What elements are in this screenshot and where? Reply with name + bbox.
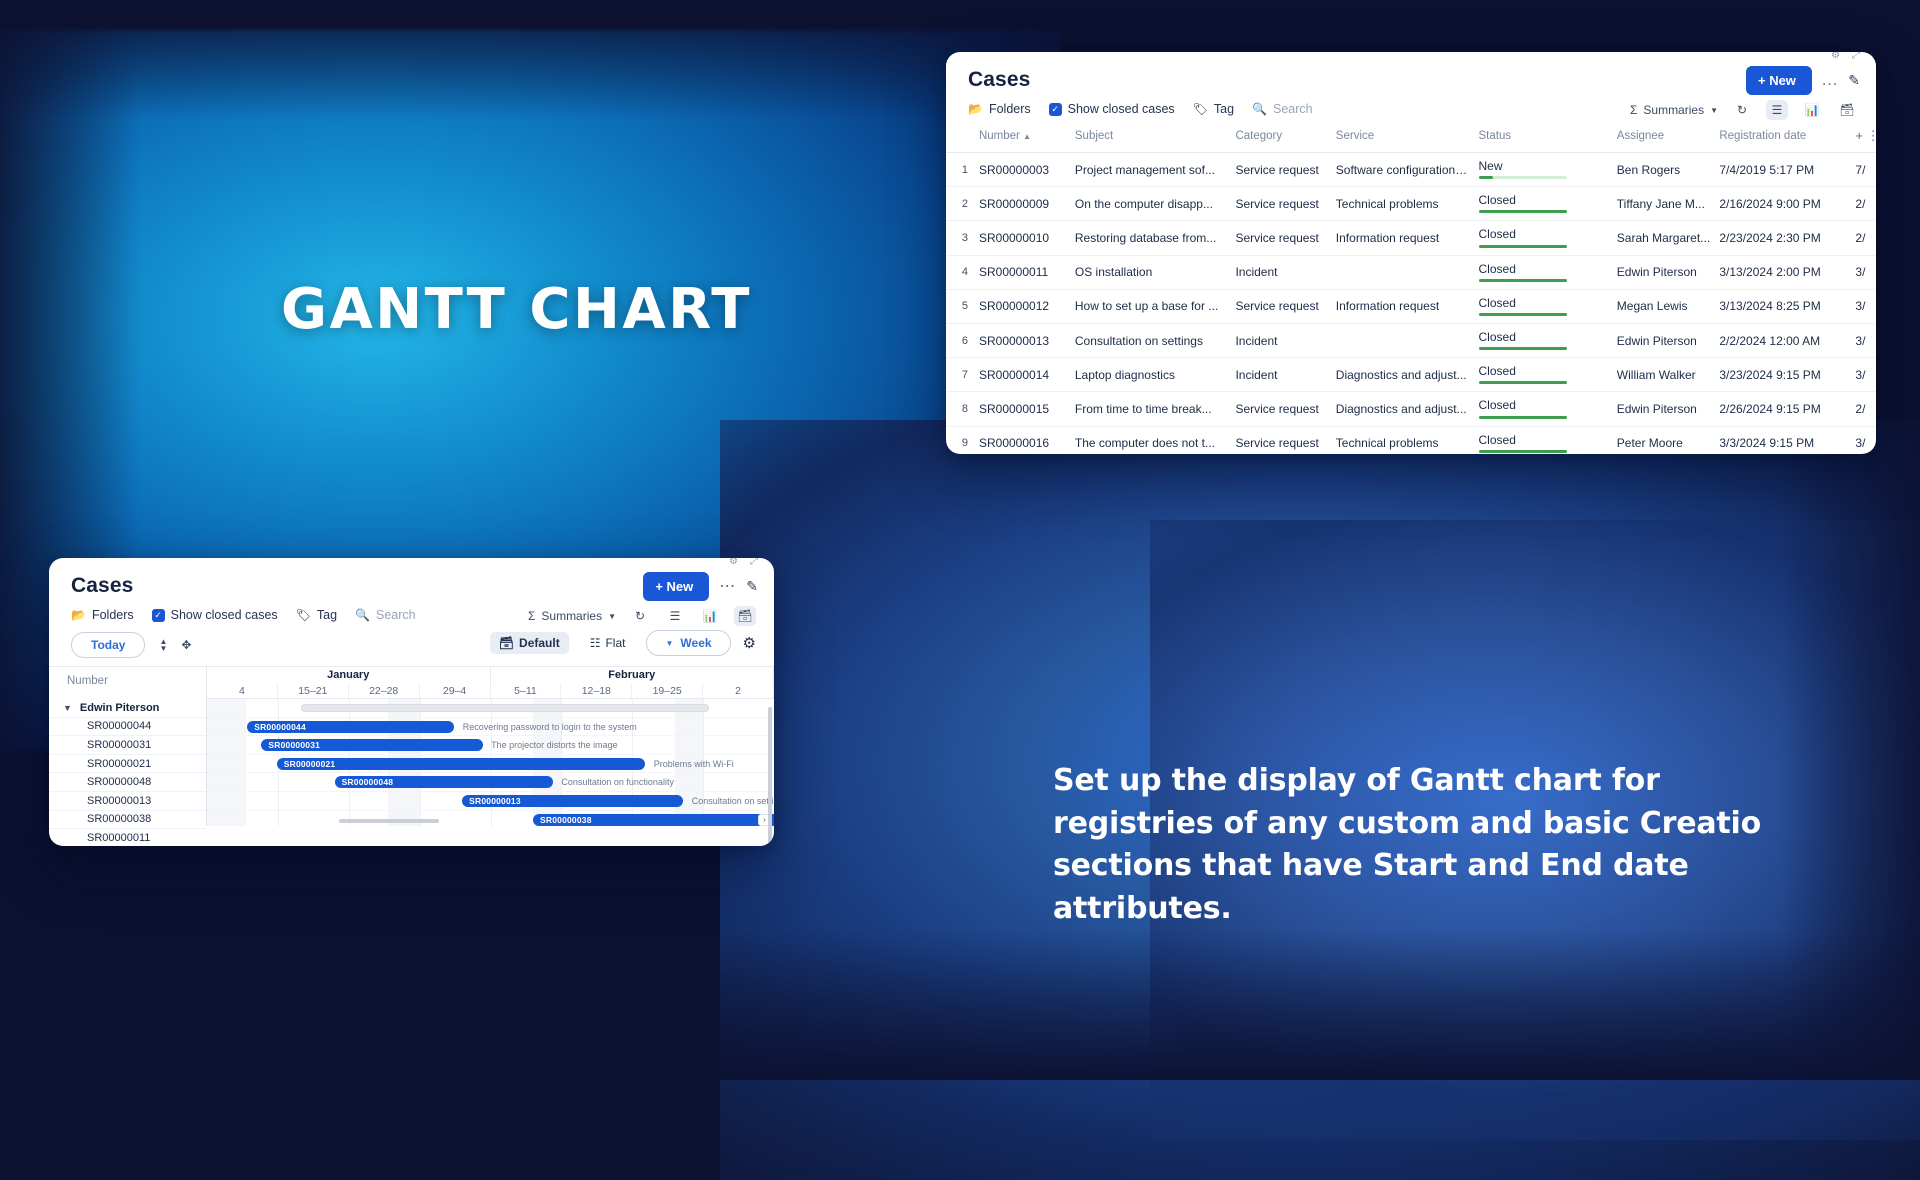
status-progress-bar: [1479, 245, 1567, 248]
status-badge: Closed: [1475, 289, 1613, 323]
status-badge: Closed: [1475, 187, 1613, 221]
view-flat-label: Flat: [605, 636, 625, 650]
case-number-link[interactable]: SR00000010: [975, 221, 1071, 255]
case-service-link[interactable]: [1332, 323, 1475, 357]
summaries-label: Summaries: [541, 609, 602, 623]
case-registration-date: 2/2/2024 12:00 AM: [1715, 323, 1851, 357]
gantt-task-label[interactable]: SR00000013: [49, 792, 206, 811]
case-subject: Project management sof...: [1071, 153, 1232, 187]
gantt-window-corner-icons: ⚙ ⤢: [729, 558, 758, 567]
folders-button[interactable]: 📂 Folders: [968, 102, 1031, 116]
grid-icon: ☷: [590, 636, 601, 650]
gantt-group-label[interactable]: ▼Edwin Piterson: [49, 699, 206, 718]
page-title: Cases: [968, 68, 1030, 92]
gantt-task-bar[interactable]: SR00000013: [462, 795, 683, 807]
status-progress-bar: [1479, 347, 1567, 350]
status-label: Closed: [1479, 297, 1609, 310]
gantt-month-label: January: [207, 667, 491, 683]
chevron-down-icon[interactable]: ▼: [63, 703, 72, 713]
case-registration-date: 3/23/2024 9:15 PM: [1715, 358, 1851, 392]
case-subject: Restoring database from...: [1071, 221, 1232, 255]
expand-icon[interactable]: ⤢: [750, 558, 758, 567]
case-subject: OS installation: [1071, 255, 1232, 289]
gantt-week-label: 4: [207, 683, 278, 698]
row-index: 7: [946, 358, 975, 392]
status-badge: Closed: [1475, 392, 1613, 426]
column-registration-date[interactable]: Registration date: [1715, 122, 1851, 153]
gantt-week-label: 15–21: [278, 683, 349, 698]
refresh-icon[interactable]: ↻: [629, 606, 651, 626]
status-progress-bar: [1479, 313, 1567, 316]
table-row[interactable]: 3SR00000010Restoring database from...Ser…: [946, 221, 1876, 255]
gantt-month-header: JanuaryFebruary: [207, 667, 774, 683]
search-icon: 🔍: [355, 608, 370, 622]
case-service-link[interactable]: Technical problems: [1332, 426, 1475, 454]
status-label: New: [1479, 160, 1609, 173]
case-service-link[interactable]: Diagnostics and adjust...: [1332, 392, 1475, 426]
search-placeholder: Search: [1273, 102, 1313, 116]
gantt-row: SR00000038›: [207, 811, 774, 826]
status-label: Closed: [1479, 228, 1609, 241]
case-assignee-link[interactable]: Edwin Piterson: [1613, 323, 1716, 357]
case-number-link[interactable]: SR00000003: [975, 153, 1071, 187]
cases-table-body: 1SR00000003Project management sof...Serv…: [946, 153, 1876, 455]
cases-header-actions: + New ... ✎: [1746, 66, 1860, 95]
gantt-task-label[interactable]: SR00000011: [49, 829, 206, 846]
folders-label: Folders: [989, 102, 1031, 116]
case-service-link[interactable]: Information request: [1332, 221, 1475, 255]
row-index: 4: [946, 255, 975, 289]
case-registration-date-overflow: 3/: [1851, 255, 1876, 289]
gantt-view-icon[interactable]: 🗃: [1836, 100, 1858, 120]
folders-button[interactable]: 📂 Folders: [71, 608, 134, 622]
scale-label: Week: [680, 636, 711, 650]
gantt-card: Cases ⚙ ⤢ + New ⋯ ✎ 📂 Folders ✓ Show clo…: [49, 558, 774, 846]
gantt-task-bar[interactable]: SR00000031: [261, 739, 482, 751]
search-icon: 🔍: [1252, 102, 1267, 116]
table-row[interactable]: 6SR00000013Consultation on settingsIncid…: [946, 323, 1876, 357]
case-category: Incident: [1231, 255, 1331, 289]
case-number-link[interactable]: SR00000011: [975, 255, 1071, 289]
gantt-settings-gear-icon[interactable]: ⚙: [743, 634, 756, 652]
case-registration-date: 2/23/2024 2:30 PM: [1715, 221, 1851, 255]
case-registration-date-overflow: 3/: [1851, 323, 1876, 357]
case-service-link[interactable]: Software configuration (...: [1332, 153, 1475, 187]
row-index: 5: [946, 289, 975, 323]
case-category: Service request: [1231, 289, 1331, 323]
gantt-task-label[interactable]: SR00000031: [49, 736, 206, 755]
case-assignee-link[interactable]: Edwin Piterson: [1613, 392, 1716, 426]
sigma-icon: Σ: [1630, 103, 1637, 117]
case-subject: From time to time break...: [1071, 392, 1232, 426]
collapse-all-icon[interactable]: ✥: [181, 638, 191, 652]
status-progress-bar: [1479, 176, 1567, 179]
cases-table: Number ▲ Subject Category Service Status…: [946, 122, 1876, 454]
table-row[interactable]: 9SR00000016The computer does not t...Ser…: [946, 426, 1876, 454]
table-row[interactable]: 1SR00000003Project management sof...Serv…: [946, 153, 1876, 187]
gantt-week-label: 19–25: [632, 683, 703, 698]
case-registration-date: 2/16/2024 9:00 PM: [1715, 187, 1851, 221]
gantt-controls: Today ▲▼ ✥ 🗃 Default ☷ Flat ▼ Week ⚙: [49, 628, 774, 666]
table-row[interactable]: 7SR00000014Laptop diagnosticsIncidentDia…: [946, 358, 1876, 392]
gantt-task-label[interactable]: SR00000038: [49, 811, 206, 830]
more-options-icon[interactable]: ⋯: [719, 579, 736, 595]
status-label: Closed: [1479, 331, 1609, 344]
view-default-button[interactable]: 🗃 Default: [490, 632, 569, 654]
tag-label: Tag: [317, 608, 337, 622]
case-assignee-link[interactable]: Tiffany Jane M...: [1613, 187, 1716, 221]
case-number-link[interactable]: SR00000014: [975, 358, 1071, 392]
case-category: Service request: [1231, 426, 1331, 454]
chevron-down-icon: ▼: [665, 639, 673, 648]
show-closed-cases-checkbox[interactable]: ✓ Show closed cases: [152, 608, 278, 622]
case-category: Service request: [1231, 221, 1331, 255]
status-badge: Closed: [1475, 323, 1613, 357]
show-closed-cases-label: Show closed cases: [171, 608, 278, 622]
case-assignee-link[interactable]: Ben Rogers: [1613, 153, 1716, 187]
row-index: 6: [946, 323, 975, 357]
case-registration-date: 3/13/2024 2:00 PM: [1715, 255, 1851, 289]
list-view-icon[interactable]: ☰: [664, 606, 686, 626]
status-badge: Closed: [1475, 255, 1613, 289]
gantt-page-title: Cases: [71, 574, 133, 598]
column-subject[interactable]: Subject: [1071, 122, 1232, 153]
case-subject: On the computer disapp...: [1071, 187, 1232, 221]
gantt-toolbar: 📂 Folders ✓ Show closed cases 🏷 Tag 🔍 Se…: [49, 598, 774, 628]
window-corner-icons: ⚙ ⤢: [1831, 52, 1860, 61]
case-number-link[interactable]: SR00000009: [975, 187, 1071, 221]
column-number[interactable]: Number ▲: [975, 122, 1071, 153]
folder-icon: 📂: [968, 102, 983, 116]
gantt-horizontal-scrollbar[interactable]: [339, 819, 439, 823]
gantt-week-header: 415–2122–2829–45–1112–1819–252: [207, 683, 774, 699]
cases-view-controls: Σ Summaries ▼ ↻ ☰ 📊 🗃: [1630, 100, 1858, 120]
case-subject: Consultation on settings: [1071, 323, 1232, 357]
case-registration-date: 3/13/2024 8:25 PM: [1715, 289, 1851, 323]
gantt-row: SR00000021Problems with Wi-Fi: [207, 755, 774, 774]
edit-pencil-icon[interactable]: ✎: [1848, 72, 1860, 89]
case-number-link[interactable]: SR00000015: [975, 392, 1071, 426]
gantt-week-label: 12–18: [561, 683, 632, 698]
expand-icon[interactable]: ⤢: [1852, 52, 1860, 61]
case-assignee-link[interactable]: Edwin Piterson: [1613, 255, 1716, 289]
case-category: Service request: [1231, 392, 1331, 426]
checkmark-icon: ✓: [1049, 103, 1062, 116]
table-row[interactable]: 5SR00000012How to set up a base for ...S…: [946, 289, 1876, 323]
cases-toolbar: 📂 Folders ✓ Show closed cases 🏷 Tag 🔍 Se…: [946, 92, 1876, 122]
row-index: 8: [946, 392, 975, 426]
gantt-week-label: 22–28: [349, 683, 420, 698]
status-badge: New: [1475, 153, 1613, 187]
gear-icon[interactable]: ⚙: [729, 558, 738, 567]
gantt-view-controls: Σ Summaries ▼ ↻ ☰ 📊 🗃: [528, 606, 756, 626]
row-index: 2: [946, 187, 975, 221]
case-category: Incident: [1231, 358, 1331, 392]
gantt-search-input[interactable]: 🔍 Search: [355, 608, 416, 622]
chart-view-icon[interactable]: 📊: [699, 606, 721, 626]
gantt-body: Number ▼Edwin PitersonSR00000044SR000000…: [49, 666, 774, 826]
list-view-icon[interactable]: ☰: [1766, 100, 1788, 120]
hero-title: GANTT CHART: [281, 277, 752, 342]
today-button[interactable]: Today: [71, 632, 145, 658]
folders-label: Folders: [92, 608, 134, 622]
gantt-view-icon[interactable]: 🗃: [734, 606, 756, 626]
gantt-timeline: JanuaryFebruary 415–2122–2829–45–1112–18…: [207, 667, 774, 826]
gantt-task-bar[interactable]: SR00000021: [277, 758, 646, 770]
row-height-stepper[interactable]: ▲▼: [159, 638, 167, 652]
case-number-link[interactable]: SR00000016: [975, 426, 1071, 454]
status-progress-bar: [1479, 210, 1567, 213]
case-registration-date-overflow: 2/: [1851, 392, 1876, 426]
gantt-task-caption: Recovering password to login to the syst…: [463, 722, 637, 732]
gantt-task-label[interactable]: SR00000048: [49, 773, 206, 792]
folder-icon: 📂: [71, 608, 86, 622]
column-add-icons[interactable]: + ⋮: [1851, 122, 1876, 153]
gantt-mode-controls: 🗃 Default ☷ Flat ▼ Week ⚙: [490, 630, 756, 656]
column-index: [946, 122, 975, 153]
summaries-dropdown[interactable]: Σ Summaries ▼: [528, 609, 616, 623]
status-progress-bar: [1479, 450, 1567, 453]
gantt-task-caption: Consultation on settings: [692, 796, 774, 806]
edit-pencil-icon[interactable]: ✎: [746, 578, 758, 595]
gantt-vertical-scrollbar[interactable]: [768, 707, 772, 846]
column-service[interactable]: Service: [1332, 122, 1475, 153]
show-closed-cases-label: Show closed cases: [1068, 102, 1175, 116]
case-subject: How to set up a base for ...: [1071, 289, 1232, 323]
tag-button[interactable]: 🏷 Tag: [1193, 102, 1234, 116]
status-progress-bar: [1479, 416, 1567, 419]
scale-dropdown[interactable]: ▼ Week: [646, 630, 730, 656]
chevron-down-icon: ▼: [608, 612, 616, 621]
tag-icon: 🏷: [296, 608, 311, 622]
case-category: Incident: [1231, 323, 1331, 357]
column-category[interactable]: Category: [1231, 122, 1331, 153]
gantt-task-caption: Problems with Wi-Fi: [654, 759, 734, 769]
case-registration-date-overflow: 2/: [1851, 221, 1876, 255]
case-assignee-link[interactable]: Sarah Margaret...: [1613, 221, 1716, 255]
table-row[interactable]: 8SR00000015From time to time break...Ser…: [946, 392, 1876, 426]
case-registration-date: 3/3/2024 9:15 PM: [1715, 426, 1851, 454]
case-category: Service request: [1231, 187, 1331, 221]
add-new-button[interactable]: + New: [1746, 66, 1812, 95]
gear-icon[interactable]: ⚙: [1831, 52, 1840, 61]
case-registration-date-overflow: 7/: [1851, 153, 1876, 187]
status-progress-bar: [1479, 279, 1567, 282]
status-label: Closed: [1479, 399, 1609, 412]
row-index: 1: [946, 153, 975, 187]
status-badge: Closed: [1475, 358, 1613, 392]
hero-tagline: Set up the display of Gantt chart for re…: [1053, 760, 1763, 930]
gantt-group-name: Edwin Piterson: [80, 702, 159, 714]
tag-button[interactable]: 🏷 Tag: [296, 608, 337, 622]
case-registration-date-overflow: 2/: [1851, 187, 1876, 221]
sigma-icon: Σ: [528, 609, 535, 623]
gantt-month-label: February: [491, 667, 775, 683]
gantt-task-bar[interactable]: SR00000038: [533, 814, 774, 826]
gantt-row: SR00000048Consultation on functionality: [207, 773, 774, 792]
gantt-row: [207, 699, 774, 718]
case-service-link[interactable]: Technical problems: [1332, 187, 1475, 221]
gantt-icon: 🗃: [499, 636, 514, 650]
case-category: Service request: [1231, 153, 1331, 187]
gantt-header: Cases ⚙ ⤢ + New ⋯ ✎: [49, 558, 774, 598]
gantt-task-caption: Consultation on functionality: [561, 777, 674, 787]
row-index: 9: [946, 426, 975, 454]
status-progress-bar: [1479, 381, 1567, 384]
checkmark-icon: ✓: [152, 609, 165, 622]
gantt-task-bar[interactable]: SR00000048: [335, 776, 553, 788]
gantt-week-label: 2: [703, 683, 774, 698]
gantt-task-caption: The projector distorts the image: [491, 740, 618, 750]
case-number-link[interactable]: SR00000013: [975, 323, 1071, 357]
status-badge: Closed: [1475, 426, 1613, 454]
summaries-label: Summaries: [1643, 103, 1704, 117]
summaries-dropdown[interactable]: Σ Summaries ▼: [1630, 103, 1718, 117]
gantt-header-actions: + New ⋯ ✎: [643, 572, 758, 601]
status-label: Closed: [1479, 434, 1609, 447]
status-label: Closed: [1479, 365, 1609, 378]
case-registration-date-overflow: 3/: [1851, 358, 1876, 392]
case-subject: Laptop diagnostics: [1071, 358, 1232, 392]
case-registration-date: 2/26/2024 9:15 PM: [1715, 392, 1851, 426]
case-registration-date: 7/4/2019 5:17 PM: [1715, 153, 1851, 187]
table-header-row: Number ▲ Subject Category Service Status…: [946, 122, 1876, 153]
case-service-link[interactable]: [1332, 255, 1475, 289]
gantt-label-list: ▼Edwin PitersonSR00000044SR00000031SR000…: [49, 699, 206, 846]
gantt-week-label: 29–4: [420, 683, 491, 698]
chart-view-icon[interactable]: 📊: [1801, 100, 1823, 120]
cases-table-card: Cases ⚙ ⤢ + New ... ✎ 📂 Folders ✓ Show c…: [946, 52, 1876, 454]
refresh-icon[interactable]: ↻: [1731, 100, 1753, 120]
cases-table-header: Cases ⚙ ⤢ + New ... ✎: [946, 52, 1876, 92]
tag-icon: 🏷: [1193, 102, 1208, 116]
gantt-task-label[interactable]: SR00000021: [49, 755, 206, 774]
case-assignee-link[interactable]: William Walker: [1613, 358, 1716, 392]
table-row[interactable]: 2SR00000009On the computer disapp...Serv…: [946, 187, 1876, 221]
case-number-link[interactable]: SR00000012: [975, 289, 1071, 323]
gantt-task-bar[interactable]: SR00000044: [247, 721, 454, 733]
show-closed-cases-checkbox[interactable]: ✓ Show closed cases: [1049, 102, 1175, 116]
case-subject: The computer does not t...: [1071, 426, 1232, 454]
status-label: Closed: [1479, 263, 1609, 276]
row-index: 3: [946, 221, 975, 255]
gantt-row: SR00000031The projector distorts the ima…: [207, 736, 774, 755]
tag-label: Tag: [1214, 102, 1234, 116]
gantt-bar-rows: SR00000044Recovering password to login t…: [207, 699, 774, 826]
column-assignee[interactable]: Assignee: [1613, 122, 1716, 153]
view-flat-button[interactable]: ☷ Flat: [581, 632, 635, 654]
table-row[interactable]: 4SR00000011OS installationIncidentClosed…: [946, 255, 1876, 289]
gantt-summary-bar[interactable]: [301, 704, 709, 712]
search-input[interactable]: 🔍 Search: [1252, 102, 1313, 116]
case-service-link[interactable]: Diagnostics and adjust...: [1332, 358, 1475, 392]
column-status[interactable]: Status: [1475, 122, 1613, 153]
more-options-icon[interactable]: ...: [1822, 73, 1838, 89]
status-badge: Closed: [1475, 221, 1613, 255]
gantt-task-label[interactable]: SR00000044: [49, 718, 206, 737]
gantt-number-header: Number: [49, 667, 206, 699]
case-assignee-link[interactable]: Megan Lewis: [1613, 289, 1716, 323]
gantt-row: SR00000044Recovering password to login t…: [207, 718, 774, 737]
search-placeholder: Search: [376, 608, 416, 622]
gantt-row-labels: Number ▼Edwin PitersonSR00000044SR000000…: [49, 667, 207, 826]
chevron-down-icon: ▼: [1710, 106, 1718, 115]
case-assignee-link[interactable]: Peter Moore: [1613, 426, 1716, 454]
status-label: Closed: [1479, 194, 1609, 207]
gantt-week-label: 5–11: [491, 683, 562, 698]
gantt-row: SR00000013Consultation on settings: [207, 792, 774, 811]
case-registration-date-overflow: 3/: [1851, 289, 1876, 323]
view-default-label: Default: [519, 636, 560, 650]
gantt-add-new-button[interactable]: + New: [643, 572, 709, 601]
case-service-link[interactable]: Information request: [1332, 289, 1475, 323]
